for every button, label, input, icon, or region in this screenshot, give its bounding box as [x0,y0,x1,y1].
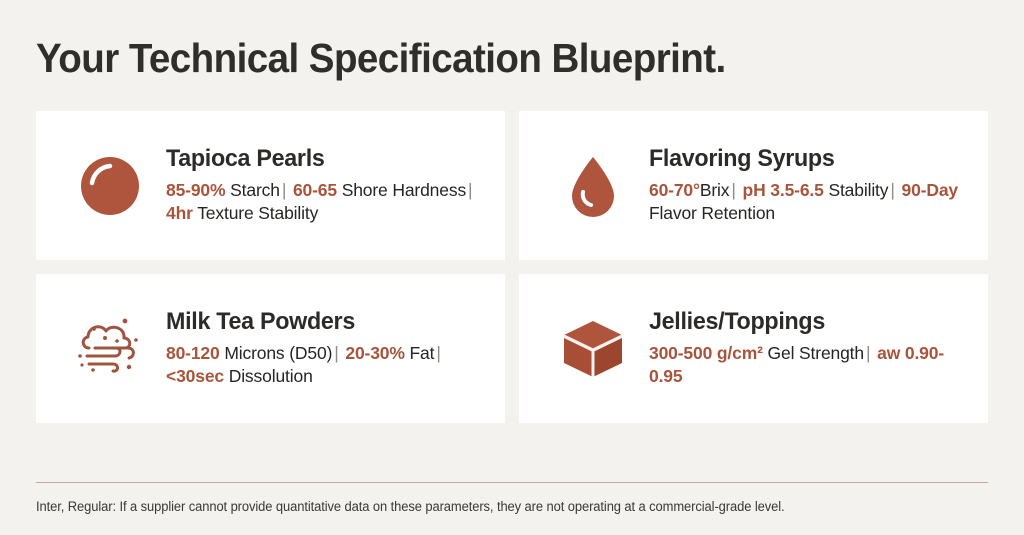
spec-label: Fat [410,343,435,363]
spec-value: 80-120 [166,343,220,363]
spec-label: Dissolution [229,366,313,386]
card-title: Milk Tea Powders [166,308,477,336]
spec-value: 300-500 g/cm² [649,343,763,363]
card-title: Tapioca Pearls [166,145,477,173]
spec-value: 60-70° [649,180,700,200]
card-body: Tapioca Pearls 85-90% Starch| 60-65 Shor… [162,145,487,226]
page-title: Your Technical Specification Blueprint. [36,0,931,82]
spec-value: 4hr [166,203,193,223]
spec-separator: | [466,180,474,200]
spec-separator: | [332,343,340,363]
card-body: Flavoring Syrups 60-70°Brix| pH 3.5-6.5 … [645,145,970,226]
card-specs: 60-70°Brix| pH 3.5-6.5 Stability| 90-Day… [649,179,970,226]
spec-label: Flavor Retention [649,203,775,223]
spec-card-tapioca-pearls: Tapioca Pearls 85-90% Starch| 60-65 Shor… [36,111,505,260]
spec-value: 60-65 [293,180,337,200]
spec-value: <30sec [166,366,224,386]
spec-card-grid: Tapioca Pearls 85-90% Starch| 60-65 Shor… [36,111,988,423]
footer-note: Inter, Regular: If a supplier cannot pro… [36,499,950,514]
card-specs: 85-90% Starch| 60-65 Shore Hardness| 4hr… [166,179,487,226]
infographic-page: Your Technical Specification Blueprint. … [0,0,1024,535]
spec-separator: | [864,343,872,363]
spec-separator: | [888,180,896,200]
spec-label: Stability [828,180,888,200]
spec-value: pH 3.5-6.5 [743,180,824,200]
spec-card-milk-tea-powders: Milk Tea Powders 80-120 Microns (D50)| 2… [36,274,505,423]
card-body: Jellies/Toppings 300-500 g/cm² Gel Stren… [645,308,970,389]
spec-card-jellies-toppings: Jellies/Toppings 300-500 g/cm² Gel Stren… [519,274,988,423]
spec-label: Gel Strength [768,343,864,363]
card-specs: 80-120 Microns (D50)| 20-30% Fat| <30sec… [166,342,487,389]
powder-cloud-icon [58,296,162,400]
footer-divider [36,482,988,483]
spec-separator: | [280,180,288,200]
spec-label: Shore Hardness [342,180,466,200]
spec-value: 90-Day [902,180,959,200]
card-body: Milk Tea Powders 80-120 Microns (D50)| 2… [162,308,487,389]
tapioca-pearl-icon [58,133,162,237]
card-title: Flavoring Syrups [649,145,960,173]
spec-value: 20-30% [345,343,404,363]
spec-label: Microns (D50) [224,343,332,363]
spec-separator: | [434,343,442,363]
spec-value: 85-90% [166,180,225,200]
card-title: Jellies/Toppings [649,308,960,336]
jelly-cube-icon [541,296,645,400]
spec-separator: | [729,180,737,200]
spec-label: Texture Stability [197,203,318,223]
syrup-droplet-icon [541,133,645,237]
spec-label: Starch [230,180,280,200]
card-specs: 300-500 g/cm² Gel Strength| aw 0.90-0.95 [649,342,970,389]
spec-label: Brix [700,180,730,200]
spec-card-flavoring-syrups: Flavoring Syrups 60-70°Brix| pH 3.5-6.5 … [519,111,988,260]
